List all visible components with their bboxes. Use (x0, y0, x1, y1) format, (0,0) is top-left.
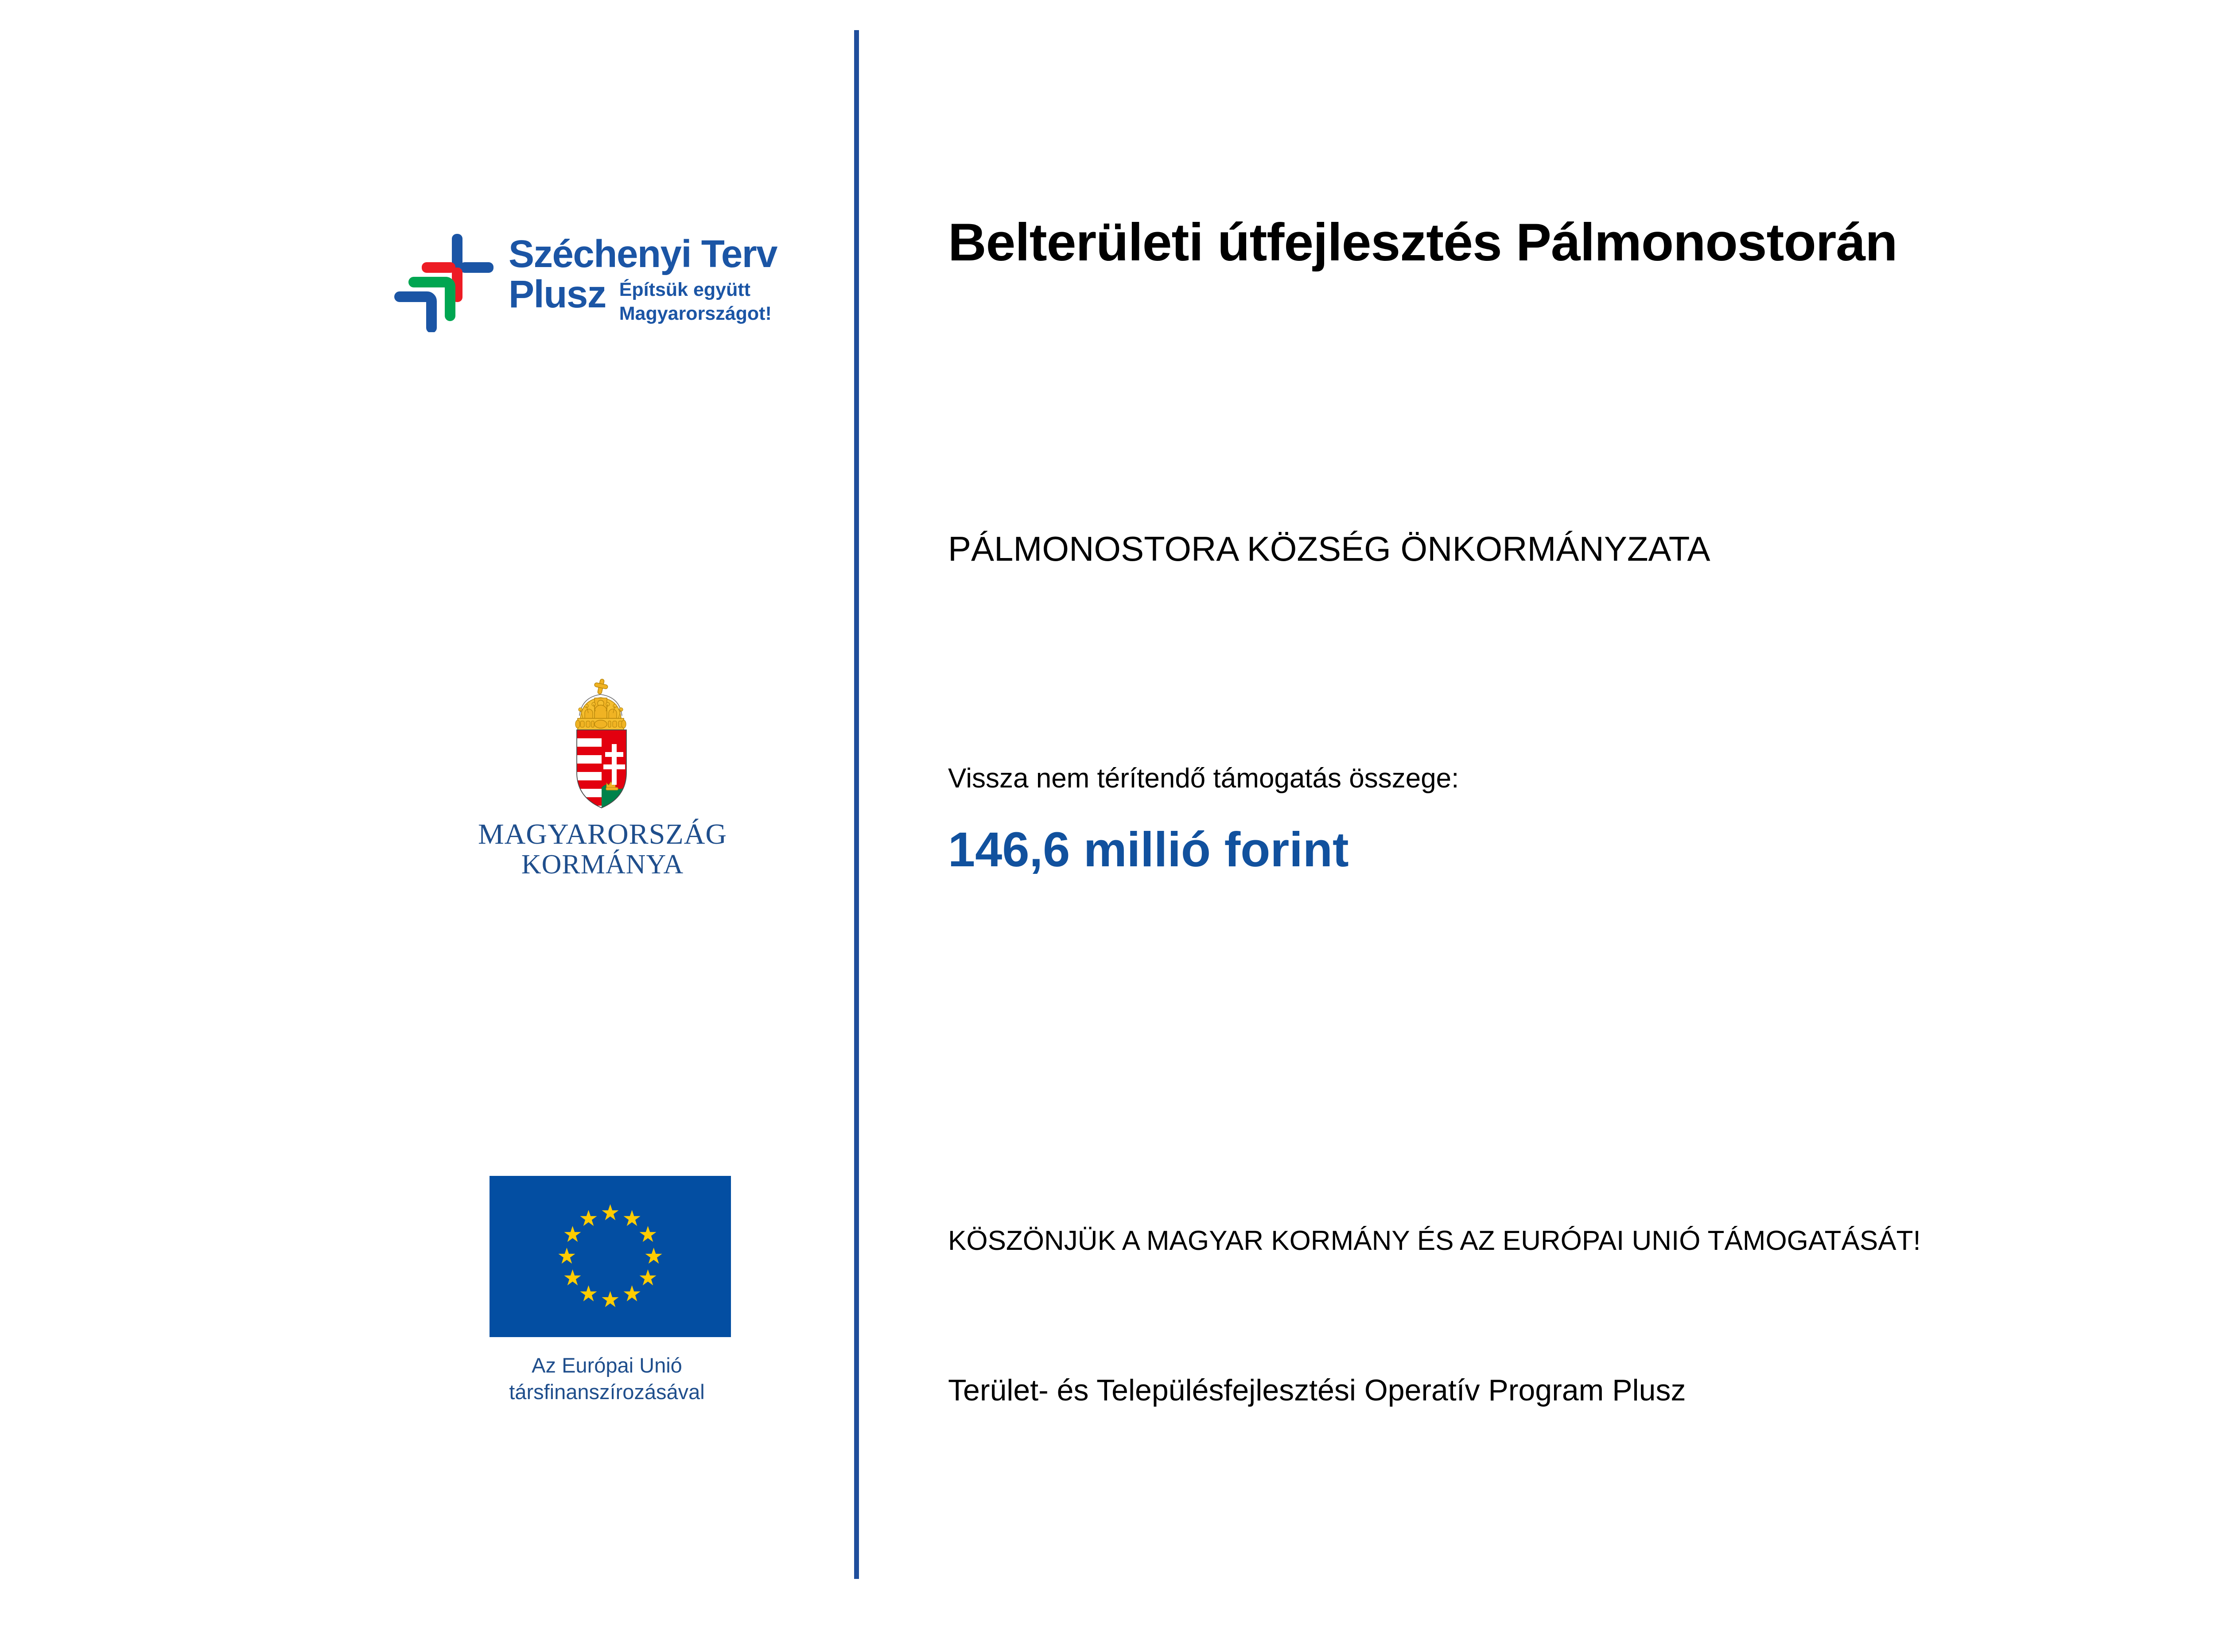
grant-label: Vissza nem térítendő támogatás összege: (948, 763, 1459, 794)
program-name: Terület- és Településfejlesztési Operatí… (948, 1373, 1686, 1408)
project-title: Belterületi útfejlesztés Pálmonostorán (948, 212, 1897, 273)
logo-column: Széchenyi Terv Plusz Építsük együtt Magy… (0, 0, 854, 1652)
kormany-caption: MAGYARORSZÁG KORMÁNYA (447, 818, 758, 880)
szechenyi-tagline-line1: Építsük együtt (619, 278, 772, 302)
eu-caption-line2: társfinanszírozásával (461, 1379, 753, 1405)
szechenyi-tagline: Építsük együtt Magyarországot! (619, 278, 772, 326)
szechenyi-terv-plusz-logo: Széchenyi Terv Plusz Építsük együtt Magy… (394, 230, 806, 385)
organization-name: PÁLMONOSTORA KÖZSÉG ÖNKORMÁNYZATA (948, 529, 1710, 569)
szechenyi-plus-mark-icon (394, 230, 505, 332)
szechenyi-line1: Széchenyi Terv (509, 235, 810, 273)
eu-caption-line1: Az Európai Unió (461, 1352, 753, 1379)
eu-caption: Az Európai Unió társfinanszírozásával (461, 1352, 753, 1405)
kormany-caption-line1: MAGYARORSZÁG (447, 818, 758, 850)
funding-poster: Széchenyi Terv Plusz Építsük együtt Magy… (0, 0, 2215, 1652)
hungarian-coat-of-arms-icon (548, 678, 655, 810)
magyarorszag-kormanya-logo: MAGYARORSZÁG KORMÁNYA (447, 678, 758, 926)
szechenyi-wordmark: Széchenyi Terv Plusz Építsük együtt Magy… (509, 235, 810, 326)
szechenyi-tagline-line2: Magyarországot! (619, 302, 772, 326)
szechenyi-line2: Plusz (509, 275, 606, 314)
content-column: Belterületi útfejlesztés Pálmonostorán P… (948, 0, 2215, 1652)
eu-stars-circle (490, 1176, 731, 1337)
vertical-divider-line (854, 30, 859, 1579)
thanks-message: KÖSZÖNJÜK A MAGYAR KORMÁNY ÉS AZ EURÓPAI… (948, 1225, 1921, 1256)
eu-flag-icon (490, 1176, 731, 1337)
kormany-caption-line2: KORMÁNYA (447, 850, 758, 880)
european-union-logo: Az Európai Unió társfinanszírozásával (461, 1176, 753, 1442)
grant-amount: 146,6 millió forint (948, 822, 1349, 878)
